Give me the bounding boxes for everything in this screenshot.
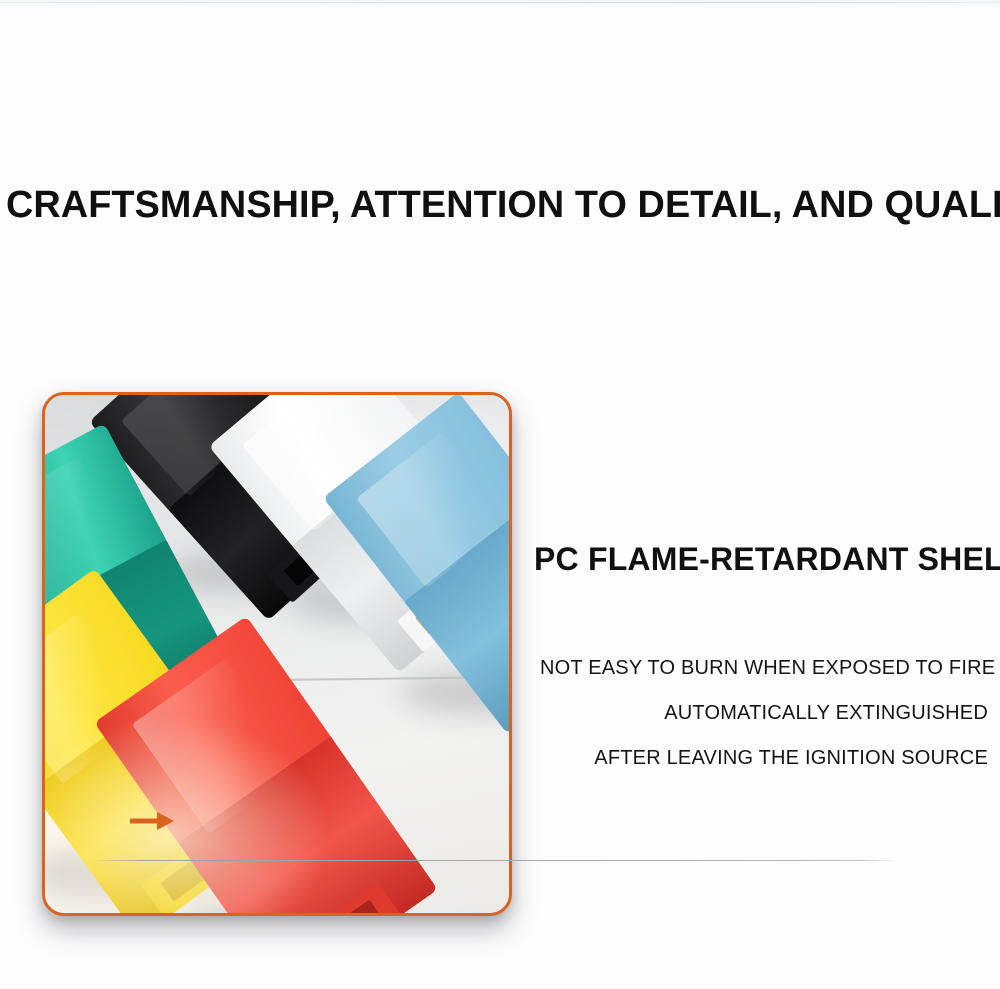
feature-subheading: PC FLAME-RETARDANT SHELL <box>534 542 1000 577</box>
product-photo <box>45 395 509 913</box>
product-photo-frame <box>42 392 512 916</box>
feature-description: NOT EASY TO BURN WHEN EXPOSED TO FIRE AU… <box>540 646 988 781</box>
top-hairline-divider <box>0 2 1000 3</box>
product-feature-banner: CRAFTSMANSHIP, ATTENTION TO DETAIL, AND … <box>0 0 1000 989</box>
page-headline: CRAFTSMANSHIP, ATTENTION TO DETAIL, AND … <box>6 186 989 226</box>
horizontal-divider-line <box>98 860 896 861</box>
arrow-right-icon <box>129 810 175 832</box>
feature-description-line-1: NOT EASY TO BURN WHEN EXPOSED TO FIRE <box>540 646 988 691</box>
feature-description-line-2: AUTOMATICALLY EXTINGUISHED <box>540 691 988 736</box>
feature-description-line-3: AFTER LEAVING THE IGNITION SOURCE <box>540 736 988 781</box>
